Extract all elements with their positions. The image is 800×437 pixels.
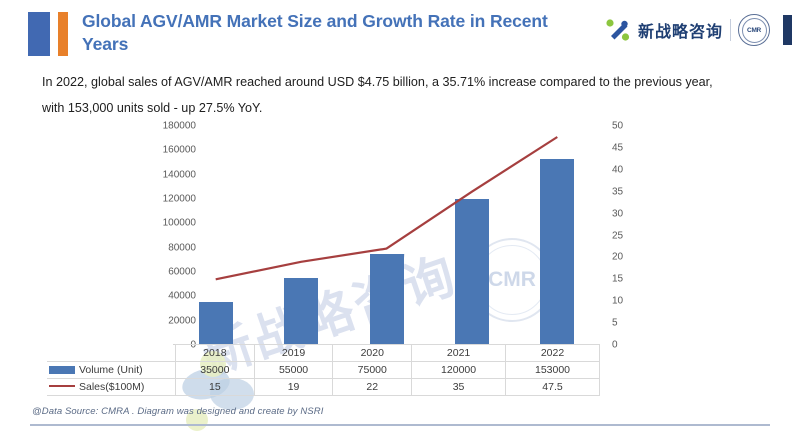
y-tick-right: 35 xyxy=(612,186,623,197)
legend-volume-label: Volume (Unit) xyxy=(79,364,143,376)
table-row-years: 20182019202020212022 xyxy=(47,345,600,362)
chart-area: 新战略咨询 CMR 020000400006000080000100000120… xyxy=(0,126,800,351)
table-volume-2022: 153000 xyxy=(506,362,600,379)
plot-area xyxy=(173,126,600,345)
legend-sales-label: Sales($100M) xyxy=(79,381,144,393)
y-tick-right: 40 xyxy=(612,164,623,175)
footer-rule xyxy=(30,424,770,426)
table-year-2019: 2019 xyxy=(254,345,333,362)
table-sales-2022: 47.5 xyxy=(506,379,600,396)
summary-paragraph: In 2022, global sales of AGV/AMR reached… xyxy=(42,70,722,122)
slide-header: Global AGV/AMR Market Size and Growth Ra… xyxy=(0,0,800,62)
brand-logo-icon xyxy=(605,17,631,43)
table-row-sales: Sales($100M) 1519223547.5 xyxy=(47,379,600,396)
table-year-2018: 2018 xyxy=(176,345,255,362)
line-series-sales xyxy=(173,126,600,345)
legend-swatch-line-icon xyxy=(49,385,75,387)
table-year-2022: 2022 xyxy=(506,345,600,362)
slide-root: Global AGV/AMR Market Size and Growth Ra… xyxy=(0,0,800,437)
table-volume-2018: 35000 xyxy=(176,362,255,379)
table-sales-2018: 15 xyxy=(176,379,255,396)
cmr-seal-icon: CMR xyxy=(738,14,770,46)
y-tick-right: 5 xyxy=(612,318,618,329)
sales-trend-line xyxy=(216,137,558,279)
accent-bar-orange xyxy=(58,12,68,56)
accent-bar-navy xyxy=(783,15,792,45)
y-tick-right: 25 xyxy=(612,230,623,241)
accent-bar-blue xyxy=(28,12,50,56)
brand-lockup: 新战略咨询 CMR xyxy=(605,14,792,46)
legend-volume: Volume (Unit) xyxy=(47,362,176,379)
chart-data-table: 20182019202020212022 Volume (Unit) 35000… xyxy=(47,344,600,396)
y-tick-right: 45 xyxy=(612,142,623,153)
y-tick-right: 15 xyxy=(612,274,623,285)
table-sales-2020: 22 xyxy=(333,379,412,396)
brand-divider xyxy=(730,19,731,41)
table-volume-2021: 120000 xyxy=(412,362,506,379)
table-volume-2019: 55000 xyxy=(254,362,333,379)
table-year-2021: 2021 xyxy=(412,345,506,362)
y-tick-right: 50 xyxy=(612,121,623,132)
y-tick-right: 10 xyxy=(612,296,623,307)
brand-name: 新战略咨询 xyxy=(638,18,723,42)
y-tick-right: 20 xyxy=(612,252,623,263)
table-corner-cell xyxy=(47,345,176,362)
table-sales-2019: 19 xyxy=(254,379,333,396)
legend-sales: Sales($100M) xyxy=(47,379,176,396)
table-volume-2020: 75000 xyxy=(333,362,412,379)
cmr-seal-label: CMR xyxy=(747,27,761,34)
page-title: Global AGV/AMR Market Size and Growth Ra… xyxy=(82,10,552,56)
data-source-note: @Data Source: CMRA . Diagram was designe… xyxy=(32,406,323,417)
y-tick-right: 30 xyxy=(612,208,623,219)
legend-swatch-bar-icon xyxy=(49,366,75,374)
table-sales-2021: 35 xyxy=(412,379,506,396)
table-row-volume: Volume (Unit) 35000550007500012000015300… xyxy=(47,362,600,379)
y-tick-right: 0 xyxy=(612,340,618,351)
table-year-2020: 2020 xyxy=(333,345,412,362)
